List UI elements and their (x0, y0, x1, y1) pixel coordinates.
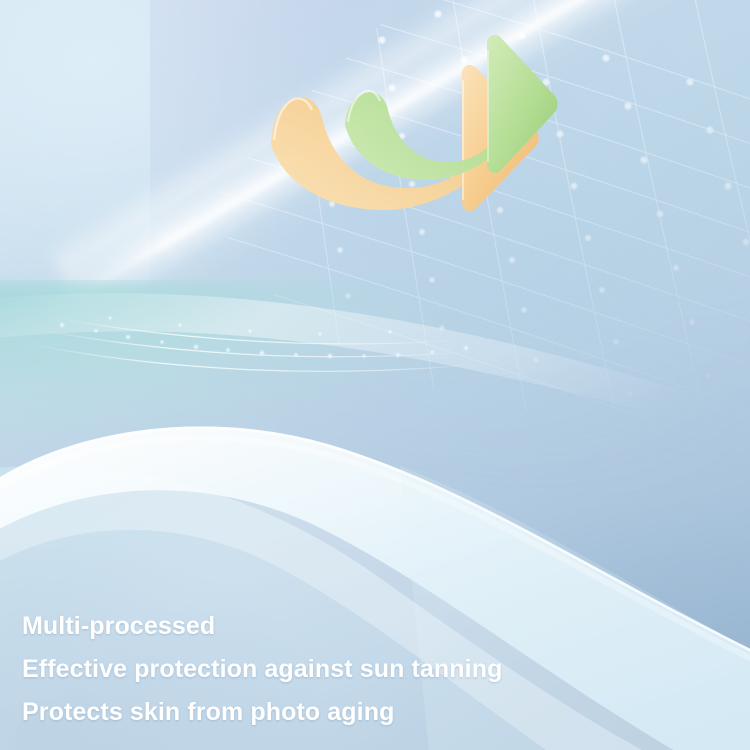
feature-line-3: Protects skin from photo aging (22, 691, 682, 734)
product-feature-banner: Multi-processed Effective protection aga… (0, 0, 750, 750)
feature-line-1: Multi-processed (22, 605, 682, 648)
feature-line-2: Effective protection against sun tanning (22, 648, 682, 691)
feature-copy-block: Multi-processed Effective protection aga… (22, 605, 682, 734)
